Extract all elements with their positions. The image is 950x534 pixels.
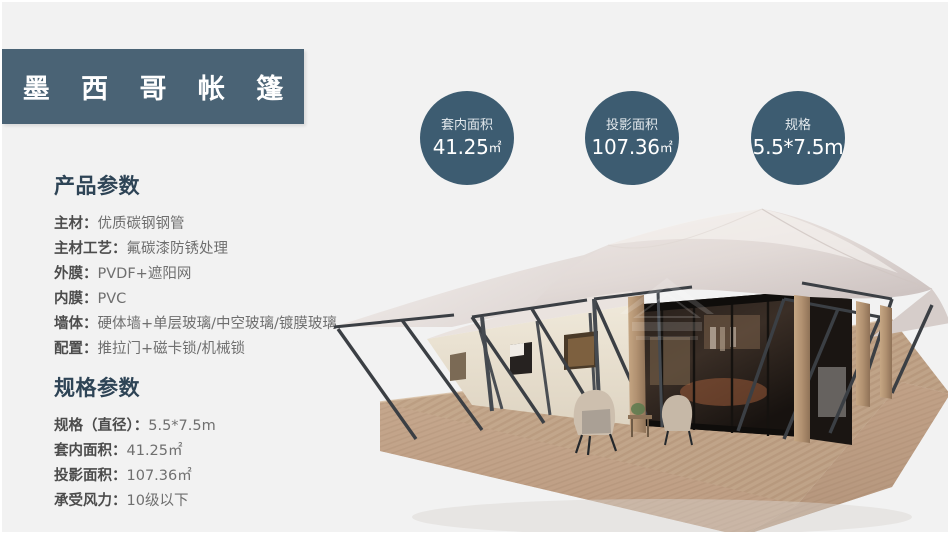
spec-row: 主材工艺：氟碳漆防锈处理	[54, 237, 337, 262]
spec-key: 套内面积：	[54, 443, 127, 459]
wooden-post	[856, 301, 870, 407]
diagonal-strut	[338, 329, 416, 439]
product-params-heading: 产品参数	[54, 170, 337, 200]
spec-row: 外膜：PVDF+遮阳网	[54, 262, 337, 287]
spec-key: 主材：	[54, 216, 98, 232]
tent-render-image	[332, 187, 950, 534]
stat-label: 套内面积	[441, 119, 493, 132]
stat-badge-interior-area: 套内面积 41.25㎡	[420, 91, 514, 185]
spec-key: 配置：	[54, 341, 98, 357]
stat-value: 5.5*7.5m	[753, 137, 844, 157]
spec-row: 配置：推拉门+磁卡锁/机械锁	[54, 337, 337, 362]
potted-plant	[631, 403, 645, 415]
size-params-heading: 规格参数	[54, 372, 216, 402]
spec-value: 5.5*7.5m	[148, 418, 216, 434]
stat-label: 投影面积	[606, 119, 658, 132]
spec-value: 107.36㎡	[127, 468, 192, 484]
spec-sheet-page: 墨 西 哥 帐 篷 产品参数 主材：优质碳钢钢管 主材工艺：氟碳漆防锈处理 外膜…	[0, 0, 950, 534]
spec-row: 投影面积：107.36㎡	[54, 464, 216, 489]
spec-row: 内膜：PVC	[54, 287, 337, 312]
stat-label: 规格	[785, 119, 811, 132]
spec-value: 优质碳钢钢管	[98, 216, 185, 232]
stat-number: 107.36	[592, 135, 660, 159]
wall-window-glint	[510, 343, 524, 357]
spec-value: PVC	[98, 291, 127, 307]
armchair-cushion	[582, 409, 611, 434]
wall-window	[450, 352, 466, 381]
stat-number: 5.5*7.5m	[753, 135, 844, 159]
wall-window-inner	[568, 336, 594, 367]
stat-unit: ㎡	[660, 141, 673, 156]
spec-key: 规格（直径）：	[54, 418, 148, 434]
spec-key: 承受风力：	[54, 493, 127, 509]
wooden-post	[880, 305, 892, 399]
stat-number: 41.25	[433, 135, 489, 159]
spec-row: 承受风力：10级以下	[54, 489, 216, 514]
size-params-block: 规格参数 规格（直径）：5.5*7.5m 套内面积：41.25㎡ 投影面积：10…	[54, 372, 216, 514]
spec-value: 41.25㎡	[127, 443, 183, 459]
wooden-post	[794, 295, 810, 443]
side-table-top	[628, 415, 652, 419]
spec-row: 规格（直径）：5.5*7.5m	[54, 414, 216, 439]
product-params-block: 产品参数 主材：优质碳钢钢管 主材工艺：氟碳漆防锈处理 外膜：PVDF+遮阳网 …	[54, 170, 337, 362]
spec-value: PVDF+遮阳网	[98, 266, 192, 282]
title-banner: 墨 西 哥 帐 篷	[2, 49, 304, 124]
ground-shadow	[412, 499, 912, 534]
stat-badge-projected-area: 投影面积 107.36㎡	[585, 91, 679, 185]
spec-key: 墙体：	[54, 316, 98, 332]
spec-row: 墙体：硬体墙+单层玻璃/中空玻璃/镀膜玻璃	[54, 312, 337, 337]
deck-armchair	[662, 395, 692, 431]
spec-value: 10级以下	[127, 493, 189, 509]
spec-row: 主材：优质碳钢钢管	[54, 212, 337, 237]
interior-garment	[720, 327, 725, 351]
spec-value: 氟碳漆防锈处理	[127, 241, 229, 257]
spec-row: 套内面积：41.25㎡	[54, 439, 216, 464]
spec-key: 内膜：	[54, 291, 98, 307]
spec-value: 硬体墙+单层玻璃/中空玻璃/镀膜玻璃	[98, 316, 337, 332]
spec-key: 投影面积：	[54, 468, 127, 484]
interior-garment	[710, 327, 716, 349]
stat-value: 107.36㎡	[592, 137, 673, 157]
stat-unit: ㎡	[489, 141, 502, 156]
stat-badge-dimensions: 规格 5.5*7.5m	[751, 91, 845, 185]
page-title: 墨 西 哥 帐 篷	[12, 67, 295, 106]
spec-key: 主材工艺：	[54, 241, 127, 257]
spec-value: 推拉门+磁卡锁/机械锁	[98, 341, 246, 357]
stat-value: 41.25㎡	[433, 137, 501, 157]
spec-key: 外膜：	[54, 266, 98, 282]
tent-illustration	[332, 187, 950, 534]
interior-bed	[650, 337, 690, 385]
